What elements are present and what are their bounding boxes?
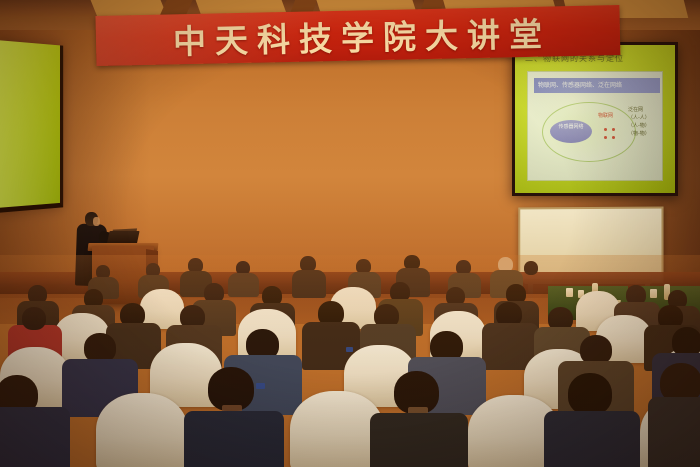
speaker-face	[93, 217, 100, 226]
audience-head	[568, 373, 612, 415]
audience-head	[22, 307, 46, 330]
audience	[0, 255, 700, 467]
audience-person	[370, 413, 468, 467]
audience-person	[184, 411, 284, 467]
right-projection-screen: 二、物联网的关系与定位 物联网、传感器网络、泛在网络 传感器网络 物联网 泛在网…	[512, 42, 678, 196]
slide-dot-group	[602, 118, 626, 144]
slide-line-1: （人-人）	[628, 114, 660, 122]
slide-card: 物联网、传感器网络、泛在网络 传感器网络 物联网 泛在网 （人-人） （人-物）…	[527, 71, 663, 181]
slide-title-bar: 物联网、传感器网络、泛在网络	[534, 78, 660, 93]
audience-person	[0, 407, 70, 467]
left-screen-glow	[0, 40, 60, 208]
slide-line-0: 泛在网	[628, 106, 660, 114]
audience-badge	[256, 383, 265, 389]
audience-person	[292, 270, 326, 298]
banner-title: 中天科技学院大讲堂	[164, 7, 551, 63]
left-projection-screen	[0, 40, 63, 213]
slide-line-2: （人-物）	[628, 122, 660, 130]
slide-text-lines: 泛在网 （人-人） （人-物） （物-物）	[628, 106, 660, 138]
slide-diagram-oval: 传感器网络	[550, 120, 592, 143]
audience-person	[228, 273, 259, 297]
audience-chair	[96, 393, 188, 467]
audience-person	[648, 397, 700, 467]
audience-head	[524, 261, 538, 275]
audience-person	[544, 411, 640, 467]
lecture-hall-photo: 二、物联网的关系与定位 物联网、传感器网络、泛在网络 传感器网络 物联网 泛在网…	[0, 0, 700, 467]
slide-line-3: （物-物）	[628, 130, 660, 138]
audience-badge	[346, 347, 353, 352]
